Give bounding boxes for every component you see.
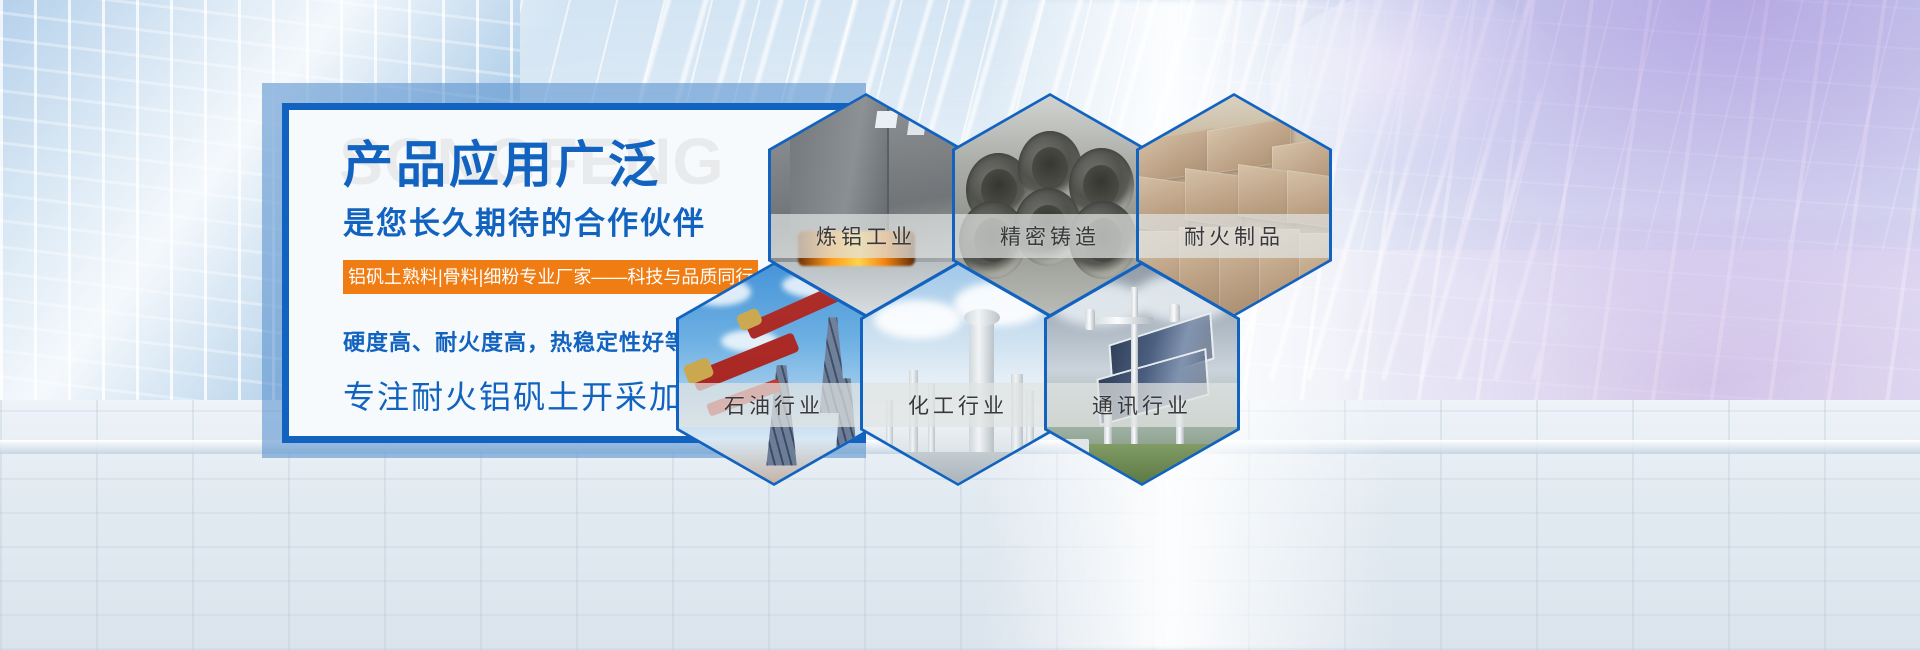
application-hex-chemical-industry[interactable]: 化工行业 <box>860 262 1056 486</box>
hex-label: 耐火制品 <box>1139 214 1329 258</box>
hex-label: 精密铸造 <box>955 214 1145 258</box>
subheadline: 是您长久期待的合作伙伴 <box>343 198 706 243</box>
application-hex-telecom-industry[interactable]: 通讯行业 <box>1044 262 1240 486</box>
hex-label: 石油行业 <box>679 383 869 427</box>
hex-label: 通讯行业 <box>1047 383 1237 427</box>
focus-text: 专注耐火铝矾土开采加工 <box>343 372 717 418</box>
hex-label: 化工行业 <box>863 383 1053 427</box>
banner-stage: SONGFENG 产品应用广泛 是您长久期待的合作伙伴 铝矾土熟料|骨料|细粉专… <box>0 0 1920 650</box>
application-hex-oil-industry[interactable]: 石油行业 <box>676 262 872 486</box>
hex-label: 炼铝工业 <box>771 214 961 258</box>
headline: 产品应用广泛 <box>343 138 661 193</box>
